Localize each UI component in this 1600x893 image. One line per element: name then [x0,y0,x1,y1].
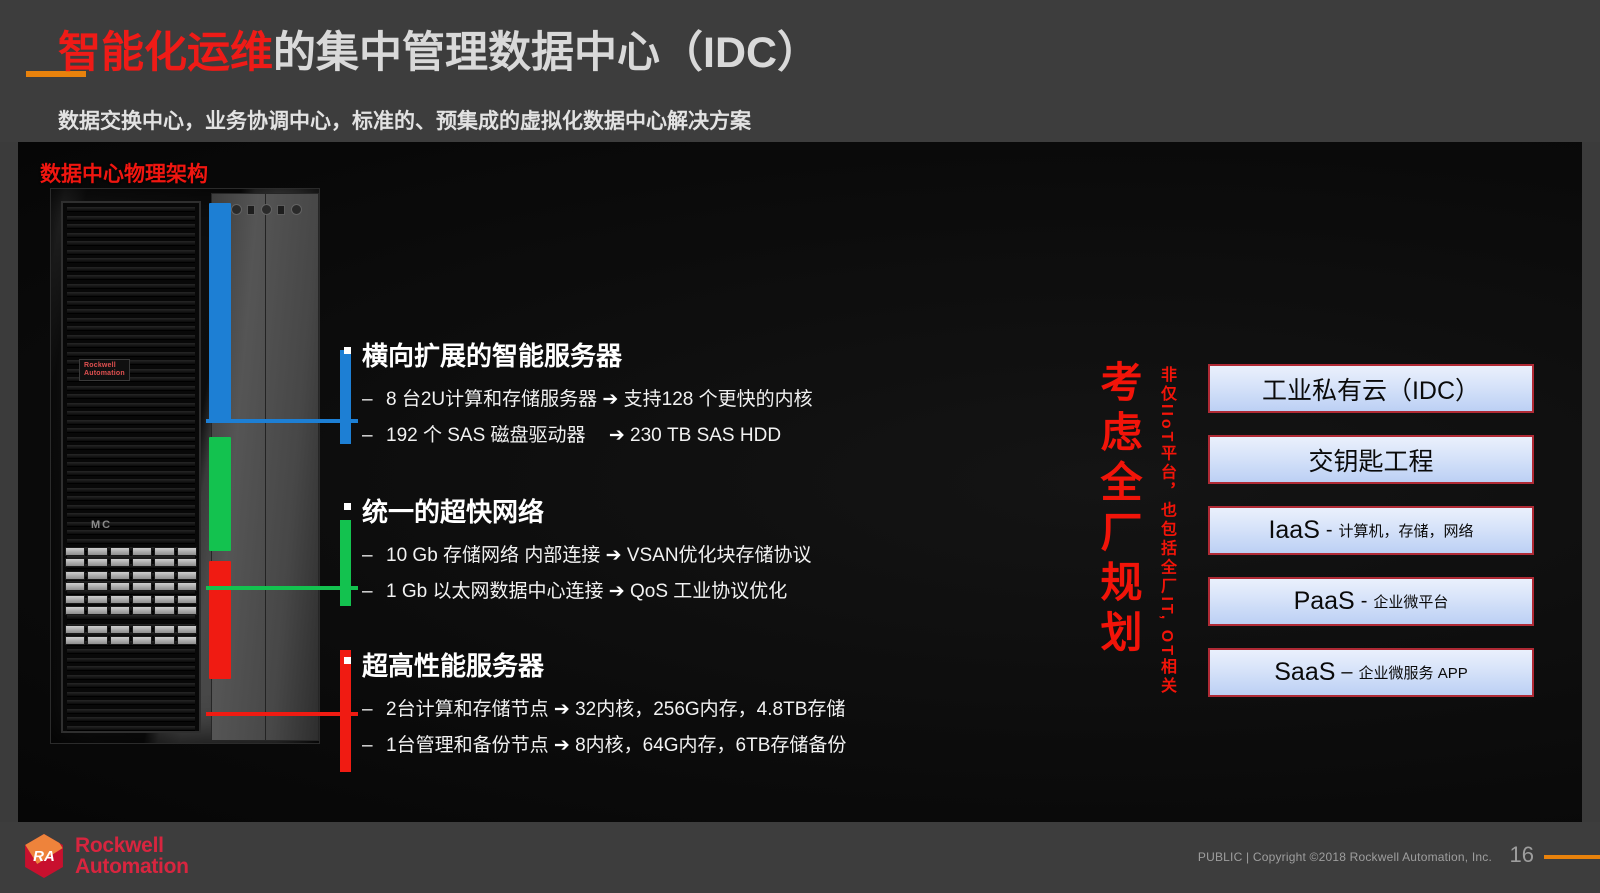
rack-vent-slat [67,454,195,459]
feature-item-right: 支持128 个更快的内核 [624,389,813,410]
rack-vent-slat [67,462,195,467]
rack-vent-slat [67,335,195,340]
drive-slot [65,595,85,604]
rockwell-logo: RA Rockwell Automation [22,834,189,878]
rack-badge-line2: Automation [84,370,125,378]
rack-badge-line1: Rockwell [84,362,125,370]
rack-vent-slat [67,513,195,518]
rack-vent-slat [67,343,195,348]
rack-vent-slat [67,700,195,705]
service-box-title: 工业私有云（IDC） [1262,371,1480,407]
logo-mark-text: RA [33,848,55,865]
drive-slot [65,636,85,645]
page-title: 智能化运维的集中管理数据中心（IDC） [58,32,820,75]
rack-top-vents [217,201,313,219]
drive-slot [154,582,174,591]
drive-slot [65,606,85,615]
slide-footer: RA Rockwell Automation PUBLIC | Copyrigh… [0,822,1600,893]
rack-vent-slat [67,292,195,297]
drive-slot [132,595,152,604]
feature-item-left: 1台管理和备份节点 [386,735,549,756]
feature-heading: 横向扩展的智能服务器 [342,336,813,373]
drive-slot [177,571,197,580]
rack-vent-slat [67,717,195,722]
feature-item: 2台计算和存储节点 ➔ 32内核，256G内存，4.8TB存储 [342,692,846,728]
rack-segment-network [209,437,231,551]
drive-slot [154,558,174,567]
drive-slot [154,571,174,580]
feature-block-compute: 横向扩展的智能服务器 8 台2U计算和存储服务器 ➔ 支持128 个更快的内核 … [342,336,813,454]
drive-slot [65,558,85,567]
rack-top-vent-slot [277,205,285,215]
drive-slot [132,625,152,634]
content-panel: 数据中心物理架构 Rockwell Automation MC [18,142,1582,822]
rack-body: Rockwell Automation MC [50,188,320,744]
drive-slot [132,606,152,615]
service-box-iaas[interactable]: IaaS - 计算机，存储，网络 [1208,506,1534,555]
rack-vent-slat [67,284,195,289]
service-box-separator: - [1320,519,1339,542]
drive-slot [177,547,197,556]
rack-vent-slat [67,471,195,476]
slide-header: 智能化运维的集中管理数据中心（IDC） 数据交换中心，业务协调中心，标准的、预集… [0,0,1600,142]
feature-block-performance: 超高性能服务器 2台计算和存储节点 ➔ 32内核，256G内存，4.8TB存储 … [342,646,846,764]
rack-vent-slat [67,530,195,535]
rack-top-vent-slot [247,205,255,215]
drive-slot [87,582,107,591]
rack-vent-slat [67,649,195,654]
drive-slot [65,582,85,591]
feature-item-right: 8内核，64G内存，6TB存储备份 [575,735,846,756]
drive-slot [177,625,197,634]
page-title-rest: 的集中管理数据中心（IDC） [273,29,820,77]
service-box-desc: 企业微平台 [1373,591,1448,612]
feature-heading: 统一的超快网络 [342,492,812,529]
rack-vent-slat [67,224,195,229]
rack-unit-text: MC [91,519,112,531]
feature-heading: 超高性能服务器 [342,646,846,683]
rack-vent-slat [67,428,195,433]
feature-block-network: 统一的超快网络 10 Gb 存储网络 内部连接 ➔ VSAN优化块存储协议 1 … [342,492,812,610]
feature-item: 10 Gb 存储网络 内部连接 ➔ VSAN优化块存储协议 [342,538,812,574]
drive-slot [177,558,197,567]
service-box-title: IaaS [1268,516,1319,545]
rack-vent-slat [67,326,195,331]
rack-vent-slat [67,258,195,263]
drive-slot [110,625,130,634]
drive-bank-1 [65,547,197,567]
rack-segment-compute [209,203,231,421]
page-title-highlight: 智能化运维 [58,29,273,77]
service-box-paas[interactable]: PaaS - 企业微平台 [1208,577,1534,626]
feature-item-right: QoS 工业协议优化 [630,581,787,602]
rack-vent-slat [67,267,195,272]
feature-item: 1 Gb 以太网数据中心连接 ➔ QoS 工业协议优化 [342,574,812,610]
rack-vent-slat [67,539,195,544]
drive-slot [177,595,197,604]
arrow-icon: ➔ [606,545,622,566]
feature-item-right: VSAN优化块存储协议 [627,545,812,566]
drive-slot [132,636,152,645]
arrow-icon: ➔ [609,581,625,602]
service-box-saas[interactable]: SaaS – 企业微服务 APP [1208,648,1534,697]
drive-slot [87,571,107,580]
footer-copyright: PUBLIC | Copyright ©2018 Rockwell Automa… [1198,850,1492,864]
rack-vent-slat [67,394,195,399]
rack-vent-slat [67,420,195,425]
feature-item-left: 1 Gb 以太网数据中心连接 [386,581,603,602]
drive-slot [132,547,152,556]
rack-vent-slat [67,241,195,246]
rack-vent-slat [67,216,195,221]
drive-slot [87,547,107,556]
rack-vent-slat [67,411,195,416]
server-rack-image: Rockwell Automation MC [42,188,332,748]
rack-vent-slat [67,403,195,408]
drive-bank-2 [65,571,197,591]
drive-slot [110,636,130,645]
panel-label: 数据中心物理架构 [40,158,208,188]
leader-line-compute [206,419,358,423]
rack-vent-slat [67,250,195,255]
rack-top-vent-hole [291,204,302,215]
drive-slot [65,571,85,580]
footer-accent-dash [1544,855,1600,859]
drive-slot [177,606,197,615]
arrow-icon: ➔ [554,699,570,720]
rack-vent-slat [67,233,195,238]
wordmark-line2: Automation [75,856,189,877]
rack-vent-slat [67,445,195,450]
drive-slot [65,547,85,556]
arrow-icon: ➔ [602,389,618,410]
drive-slot [132,582,152,591]
rack-top-vent-hole [261,204,272,215]
drive-slot [154,636,174,645]
drive-slot [87,625,107,634]
rack-vent-slat [67,309,195,314]
rack-vent-slat [67,615,195,620]
rack-vent-slat [67,301,195,306]
drive-slot [110,571,130,580]
rack-vent-slat [67,658,195,663]
rack-vent-slat [67,709,195,714]
drive-slot [110,606,130,615]
rockwell-logo-mark: RA [22,834,66,878]
service-box-title: SaaS [1274,658,1335,687]
drive-slot [154,595,174,604]
feature-item-left: 2台计算和存储节点 [386,699,549,720]
feature-item: 1台管理和备份节点 ➔ 8内核，64G内存，6TB存储备份 [342,728,846,764]
drive-slot [154,547,174,556]
drive-slot [110,595,130,604]
service-box-idc[interactable]: 工业私有云（IDC） [1208,364,1534,413]
rack-front-door [61,201,201,733]
drive-slot [65,625,85,634]
feature-item-right: 230 TB SAS HDD [630,425,781,446]
rack-vent-slat [67,275,195,280]
vertical-heading-planning: 考虑全厂规划 [1088,360,1149,660]
service-box-desc: 计算机，存储，网络 [1339,520,1474,541]
feature-item: 8 台2U计算和存储服务器 ➔ 支持128 个更快的内核 [342,382,813,418]
rack-vent-slat [67,505,195,510]
drive-bank-3 [65,595,197,615]
drive-slot [132,558,152,567]
drive-slot [110,558,130,567]
drive-slot [110,582,130,591]
rack-vent-slat [67,488,195,493]
rack-vent-slat [67,207,195,212]
wordmark-line1: Rockwell [75,835,189,856]
rack-vent-slat [67,675,195,680]
rack-vent-slat [67,437,195,442]
feature-item-left: 10 Gb 存储网络 内部连接 [386,545,600,566]
service-box-separator: – [1335,661,1358,684]
arrow-icon: ➔ [554,735,570,756]
drive-slot [87,595,107,604]
feature-item-right: 32内核，256G内存，4.8TB存储 [575,699,845,720]
drive-slot [87,636,107,645]
drive-slot [110,547,130,556]
service-box-turnkey[interactable]: 交钥匙工程 [1208,435,1534,484]
drive-bank-4 [65,625,197,645]
service-box-desc: 企业微服务 APP [1359,662,1468,683]
drive-slot [87,558,107,567]
drive-slot [154,606,174,615]
rack-vent-slat [67,352,195,357]
rack-vent-slat [67,479,195,484]
rack-vent-slat [67,496,195,501]
rack-vent-slat [67,726,195,731]
drive-slot [154,625,174,634]
page-subtitle: 数据交换中心，业务协调中心，标准的、预集成的虚拟化数据中心解决方案 [58,105,751,135]
drive-slot [132,571,152,580]
feature-item: 192 个 SAS 磁盘驱动器 ➔ 230 TB SAS HDD [342,418,813,454]
slide-root: 智能化运维的集中管理数据中心（IDC） 数据交换中心，业务协调中心，标准的、预集… [0,0,1600,893]
leader-line-network [206,586,358,590]
service-layer-boxes: 工业私有云（IDC） 交钥匙工程 IaaS - 计算机，存储，网络 PaaS -… [1208,364,1534,719]
service-box-title: PaaS [1294,587,1355,616]
rack-brand-badge: Rockwell Automation [79,359,130,381]
rack-vent-slat [67,522,195,527]
feature-item-left: 192 个 SAS 磁盘驱动器 [386,425,586,446]
service-box-title: 交钥匙工程 [1308,442,1433,478]
feature-item-left: 8 台2U计算和存储服务器 [386,389,597,410]
arrow-icon: ➔ [609,425,625,446]
rack-vent-slat [67,666,195,671]
drive-slot [87,606,107,615]
drive-slot [177,582,197,591]
rack-vent-slat [67,683,195,688]
vertical-subtext-scope: 非仅IIoT平台，也包括全厂IT, OT相关 [1154,366,1178,696]
page-number: 16 [1510,842,1534,868]
rack-top-vent-hole [231,204,242,215]
rockwell-wordmark: Rockwell Automation [75,835,189,877]
leader-line-performance [206,712,358,716]
rack-vent-slat [67,318,195,323]
rack-segment-performance [209,561,231,679]
service-box-separator: - [1355,590,1374,613]
rack-vent-slat [67,386,195,391]
rack-vent-slat [67,692,195,697]
drive-slot [177,636,197,645]
